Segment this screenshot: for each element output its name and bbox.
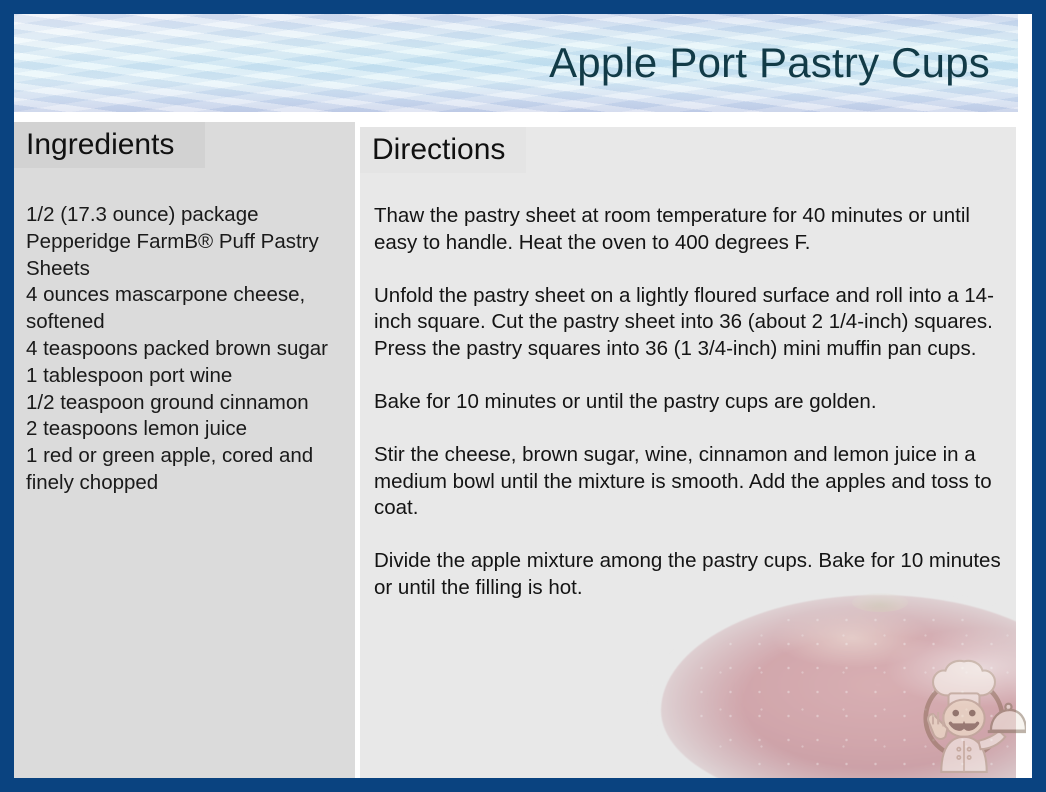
list-item: 4 ounces mascarpone cheese, xyxy=(26,282,351,309)
list-item: 1 red or green apple, cored and xyxy=(26,443,351,470)
direction-step: Divide the apple mixture among the pastr… xyxy=(374,548,1014,602)
direction-step: Thaw the pastry sheet at room temperatur… xyxy=(374,203,1014,257)
direction-step: Stir the cheese, brown sugar, wine, cinn… xyxy=(374,442,1014,522)
list-item: 2 teaspoons lemon juice xyxy=(26,416,351,443)
directions-body-area: Thaw the pastry sheet at room temperatur… xyxy=(360,173,1016,778)
list-item: 4 teaspoons packed brown sugar xyxy=(26,336,351,363)
ingredients-body: 1/2 (17.3 ounce) package Pepperidge Farm… xyxy=(14,168,355,778)
directions-header-tab: Directions xyxy=(360,127,526,173)
direction-step: Unfold the pastry sheet on a lightly flo… xyxy=(374,283,1014,363)
directions-steps: Thaw the pastry sheet at room temperatur… xyxy=(374,203,1014,602)
list-item: Sheets xyxy=(26,256,351,283)
directions-panel: Directions Thaw the pastry sheet at room… xyxy=(360,127,1016,778)
ingredients-list: 1/2 (17.3 ounce) package Pepperidge Farm… xyxy=(26,202,351,497)
ingredients-header-tab: Ingredients xyxy=(14,122,205,168)
list-item: 1/2 teaspoon ground cinnamon xyxy=(26,390,351,417)
page-title: Apple Port Pastry Cups xyxy=(549,40,990,86)
list-item: 1/2 (17.3 ounce) package xyxy=(26,202,351,229)
list-item: finely chopped xyxy=(26,470,351,497)
title-banner: Apple Port Pastry Cups xyxy=(14,14,1018,112)
ingredients-panel: Ingredients 1/2 (17.3 ounce) package Pep… xyxy=(14,122,355,778)
column-gutter xyxy=(355,122,360,778)
directions-heading: Directions xyxy=(372,135,505,165)
ingredients-heading: Ingredients xyxy=(26,130,174,160)
direction-step: Bake for 10 minutes or until the pastry … xyxy=(374,389,1014,416)
recipe-slide: Apple Port Pastry Cups Ingredients 1/2 (… xyxy=(0,0,1046,792)
list-item: 1 tablespoon port wine xyxy=(26,363,351,390)
list-item: softened xyxy=(26,309,351,336)
list-item: Pepperidge FarmB® Puff Pastry xyxy=(26,229,351,256)
